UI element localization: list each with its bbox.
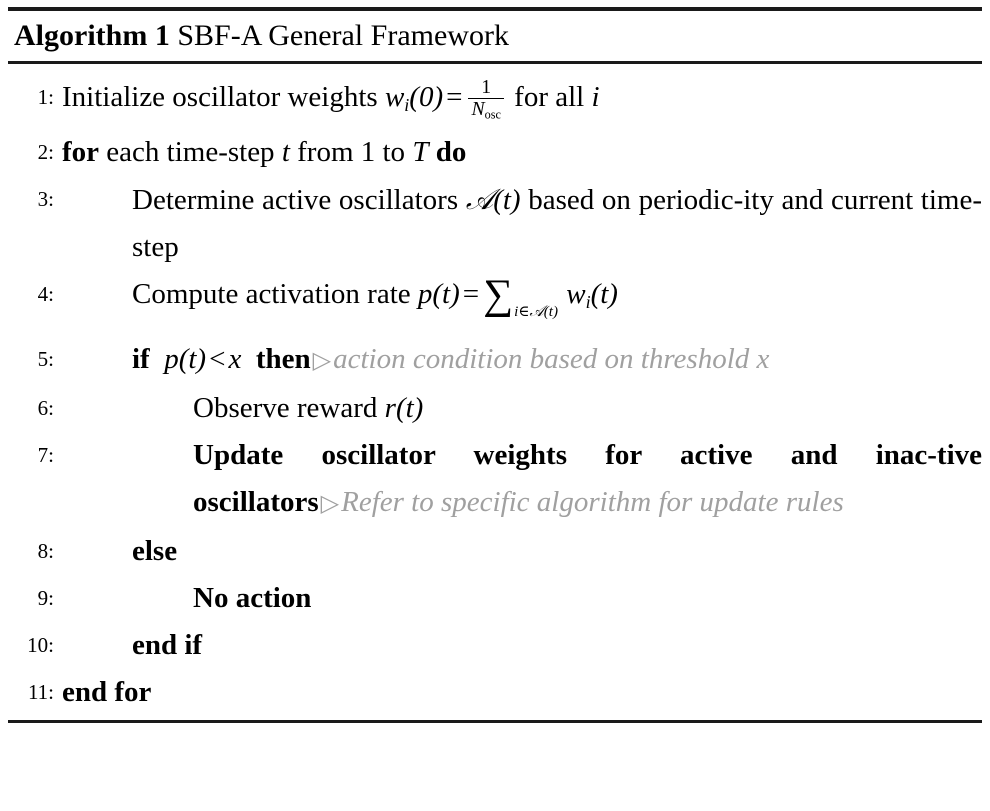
algorithm-line: 11: end for: [8, 669, 982, 716]
line-number: 6:: [8, 385, 62, 432]
line3-arg-t: (t): [493, 184, 520, 216]
line-number: 7:: [8, 432, 62, 479]
line-number: 4:: [8, 271, 62, 318]
line7-comment: Refer to specific algorithm for update r…: [341, 486, 844, 518]
algorithm-line: 2: for each time-step t from 1 to T do: [8, 129, 982, 176]
line-number: 1:: [8, 74, 62, 121]
fraction-denominator-sub: osc: [485, 107, 501, 121]
line2-var-t: t: [282, 136, 290, 168]
line-number: 9:: [8, 575, 62, 622]
line-content: if p(t)<x then▷action condition based on…: [62, 336, 982, 385]
sum-calligraphic-A: 𝒜: [529, 302, 543, 320]
algorithm-caption-label: Algorithm 1: [14, 19, 170, 52]
line-content: No action: [62, 575, 982, 622]
algorithm-caption-title: SBF-A General Framework: [177, 19, 509, 52]
line-number: 5:: [8, 336, 62, 383]
line4-var-w: w: [566, 278, 585, 310]
algorithm-caption: Algorithm 1 SBF-A General Framework: [8, 11, 982, 61]
line-number: 8:: [8, 528, 62, 575]
line1-var-i: i: [591, 81, 599, 113]
summation-subscript: i∈𝒜(t): [514, 304, 558, 320]
element-of-icon: ∈: [518, 304, 529, 320]
algorithm-line: 5: if p(t)<x then▷action condition based…: [8, 336, 982, 385]
algorithm-block: Algorithm 1 SBF-A General Framework 1: I…: [0, 7, 990, 811]
summation-operator: ∑i∈𝒜(t): [483, 276, 558, 336]
line5-comment-var: x: [757, 343, 770, 375]
sum-arg-t: (t): [544, 304, 558, 320]
line6-lead: Observe reward: [193, 392, 377, 424]
algorithm-line: 8: else: [8, 528, 982, 575]
line-number: 2:: [8, 129, 62, 176]
comment-triangle-icon: ▷: [319, 491, 341, 517]
line6-arg-t: (t): [396, 392, 423, 424]
line5-var-x: x: [228, 343, 241, 375]
line-number: 10:: [8, 622, 62, 669]
line1-equals: =: [443, 81, 465, 113]
keyword-end-if: end if: [132, 629, 202, 661]
line4-var-p: p: [418, 278, 433, 310]
line4-lead: Compute activation rate: [132, 278, 411, 310]
line-content: Initialize oscillator weights wi(0)=1Nos…: [62, 74, 974, 129]
line-content: Compute activation rate p(t)=∑i∈𝒜(t) wi(…: [62, 271, 982, 336]
algorithm-line: 4: Compute activation rate p(t)=∑i∈𝒜(t) …: [8, 271, 982, 336]
algorithm-line: 6: Observe reward r(t): [8, 385, 982, 432]
line3-lead: Determine active oscillators: [132, 184, 458, 216]
keyword-end-for: end for: [62, 676, 151, 708]
line-content: Determine active oscillators 𝒜(t) based …: [62, 176, 982, 271]
line1-tail: for all: [514, 81, 584, 113]
keyword-for: for: [62, 136, 99, 168]
algorithm-body: 1: Initialize oscillator weights wi(0)=1…: [8, 64, 982, 716]
keyword-else: else: [132, 535, 177, 567]
line4-equals: =: [460, 278, 482, 310]
algorithm-line: 3: Determine active oscillators 𝒜(t) bas…: [8, 176, 982, 271]
less-than-icon: <: [206, 343, 228, 375]
keyword-do: do: [436, 136, 467, 168]
line-content: for each time-step t from 1 to T do: [62, 129, 974, 176]
line1-lead: Initialize oscillator weights: [62, 81, 378, 113]
fraction-one-over-nosc: 1Nosc: [468, 77, 503, 122]
line2-one: 1: [361, 136, 376, 168]
line4-w-arg: (t): [591, 278, 618, 310]
fraction-denominator-base: N: [471, 98, 484, 120]
line2-from: from: [297, 136, 353, 168]
line-content: Update oscillator weights for active and…: [62, 432, 982, 528]
line5-var-p: p: [164, 343, 179, 375]
fraction-numerator: 1: [468, 77, 503, 98]
line3-calligraphic-A: 𝒜: [466, 182, 493, 216]
keyword-then: then: [256, 343, 311, 375]
algorithm-line: 1: Initialize oscillator weights wi(0)=1…: [8, 74, 982, 129]
line5-comment: action condition based on threshold: [333, 343, 749, 375]
line2-mid: each time-step: [106, 136, 274, 168]
line1-arg0: (0): [409, 81, 443, 113]
keyword-if: if: [132, 343, 150, 375]
line-content: end if: [62, 622, 982, 669]
sigma-icon: ∑: [483, 272, 513, 318]
line-number: 11:: [8, 669, 62, 716]
line2-var-T: T: [412, 136, 428, 168]
line5-arg-t: (t): [179, 343, 206, 375]
comment-triangle-icon: ▷: [311, 348, 333, 374]
line-content: else: [62, 528, 982, 575]
line4-arg-t: (t): [432, 278, 459, 310]
rule-bottom: [8, 720, 982, 723]
line2-to: to: [383, 136, 406, 168]
line-content: end for: [62, 669, 974, 716]
line-number: 3:: [8, 176, 62, 223]
algorithm-line: 9: No action: [8, 575, 982, 622]
statement-no-action: No action: [193, 582, 311, 614]
line-content: Observe reward r(t): [62, 385, 982, 432]
algorithm-line: 10: end if: [8, 622, 982, 669]
line1-var-w: w: [385, 81, 404, 113]
algorithm-line: 7: Update oscillator weights for active …: [8, 432, 982, 528]
line6-var-r: r: [385, 392, 396, 424]
